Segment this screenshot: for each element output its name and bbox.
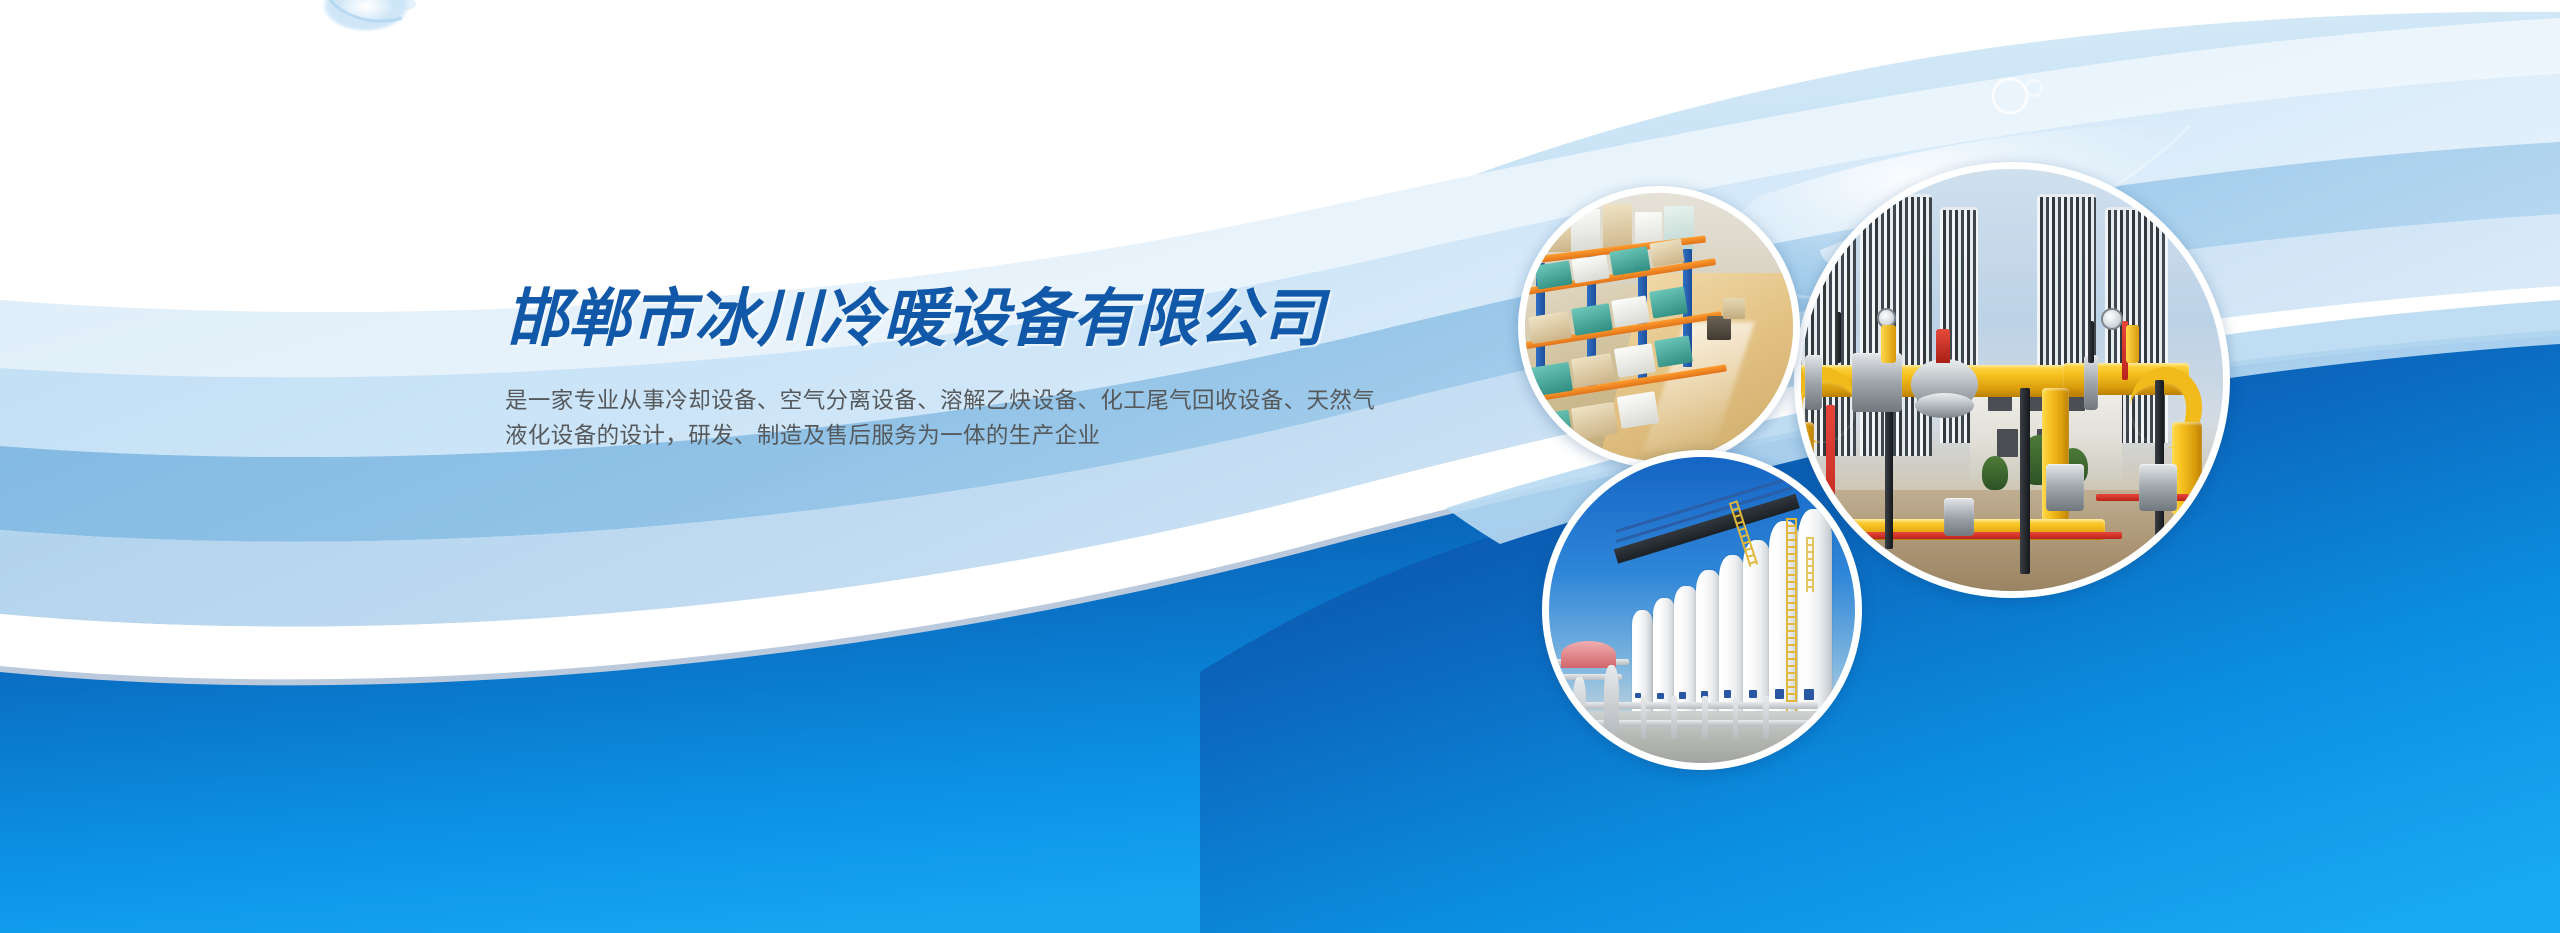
riser-pipe — [1641, 696, 1647, 739]
valve-body — [2046, 464, 2084, 510]
riser-pipe — [1733, 696, 1739, 739]
cryogenic-tank — [1798, 509, 1832, 714]
instrument-tube — [1835, 312, 1841, 363]
description-line-1: 是一家专业从事冷却设备、空气分离设备、溶解乙炔设备、化工尾气回收设备、天然气 — [505, 383, 1465, 418]
pipeline-scene — [1801, 169, 2223, 591]
cryogenic-tank — [1719, 555, 1747, 714]
page-title: 邯郸市冰川冷暖设备有限公司 — [505, 288, 1495, 351]
gas-pipeline-station-photo — [1794, 162, 2230, 598]
company-description: 是一家专业从事冷却设备、空气分离设备、溶解乙炔设备、化工尾气回收设备、天然气 液… — [505, 383, 1465, 453]
regulator-diaphragm — [1915, 393, 1974, 418]
access-ladder — [1786, 518, 1796, 714]
cryogenic-tank — [1743, 540, 1772, 714]
forklift — [1707, 316, 1731, 340]
riser-pipe — [1763, 696, 1769, 739]
yellow-fitting — [1881, 325, 1895, 363]
valve-body — [2139, 464, 2177, 510]
vertical-vessel — [1573, 677, 1585, 732]
manifold-pipe — [1555, 702, 1818, 709]
warehouse-storage-photo — [1518, 186, 1800, 468]
yellow-gas-pipe — [2172, 422, 2202, 515]
riser-pipe — [1702, 696, 1708, 739]
manifold-pipe — [1555, 720, 1818, 726]
access-ladder — [1806, 537, 1814, 592]
description-line-2: 液化设备的设计，研发、制造及售后服务为一体的生产企业 — [505, 418, 1465, 453]
cryogenic-tank — [1696, 570, 1722, 714]
warehouse-scene — [1525, 193, 1793, 461]
riser-pipe — [1671, 696, 1677, 739]
cryogenic-storage-tanks-photo — [1542, 450, 1862, 770]
black-support-pipe — [1885, 405, 1893, 548]
black-support-pipe — [2020, 388, 2029, 574]
pressure-gauge — [2101, 308, 2123, 330]
regulator-vent — [1936, 329, 1950, 363]
banner-text-block: 邯郸市冰川冷暖设备有限公司 是一家专业从事冷却设备、空气分离设备、溶解乙炔设备、… — [505, 288, 1495, 453]
red-top-tank — [1561, 641, 1616, 669]
vertical-vessel — [1604, 665, 1619, 732]
equipment-crate — [1723, 298, 1744, 319]
yellow-fitting — [2126, 325, 2139, 363]
flange — [1805, 355, 1822, 410]
vaporizer-fin-bank — [1860, 194, 1932, 456]
photo-collage — [0, 0, 2560, 933]
tank-farm-scene — [1549, 457, 1855, 763]
shrub — [1982, 456, 2007, 490]
valve-body — [1944, 498, 1974, 536]
instrument-tube — [2088, 321, 2094, 363]
company-banner: 邯郸市冰川冷暖设备有限公司 是一家专业从事冷却设备、空气分离设备、溶解乙炔设备、… — [0, 0, 2560, 933]
